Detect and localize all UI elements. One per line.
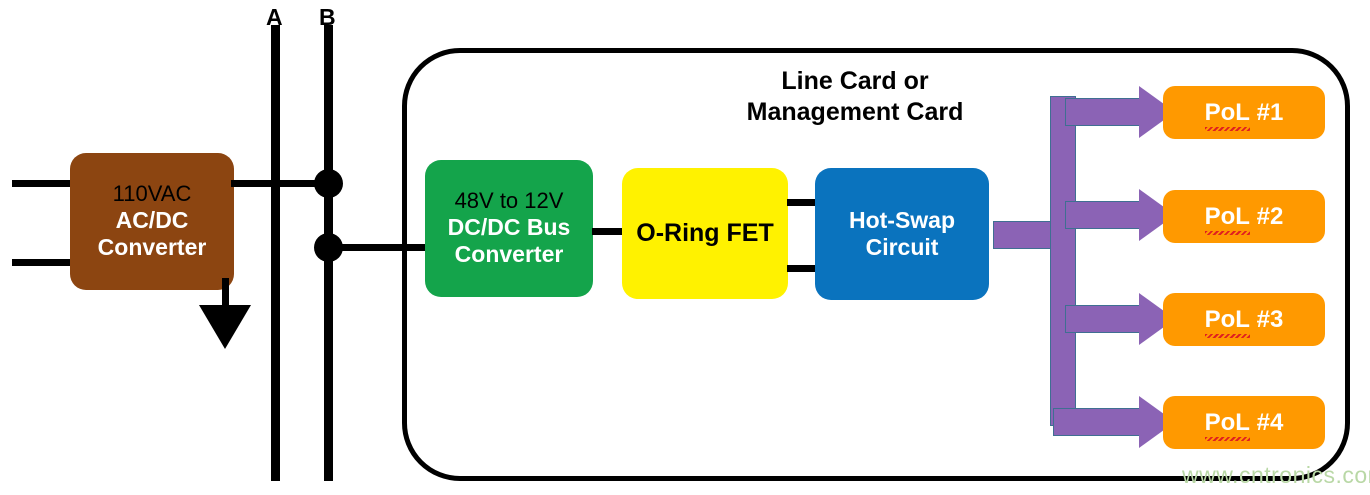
block-dcdc-bus-converter[interactable]: 48V to 12V DC/DC Bus Converter <box>425 160 593 297</box>
pol-rail-4-label: PoL #4 <box>1205 409 1284 437</box>
diagram-canvas: 110VAC AC/DC Converter A B Line Card or … <box>0 0 1370 495</box>
junction-dot-top <box>314 169 343 198</box>
bus-a-label: A <box>266 6 283 29</box>
block-hot-swap-line2: Circuit <box>866 234 939 261</box>
block-ac-dc-converter-line1: AC/DC <box>116 207 189 234</box>
wire-dcdc-to-oring <box>592 228 625 235</box>
pol-rail-2[interactable]: PoL #2 <box>1163 190 1325 243</box>
pol-rail-2-label: PoL #2 <box>1205 203 1284 231</box>
purple-arrow-4-shaft <box>1053 408 1141 436</box>
pol-rail-4[interactable]: PoL #4 <box>1163 396 1325 449</box>
purple-arrow-pol-2 <box>1065 189 1175 241</box>
block-ac-dc-converter-line2: Converter <box>98 234 207 261</box>
pol-rail-2-suffix: #2 <box>1250 203 1283 230</box>
purple-arrow-pol-3 <box>1065 293 1175 345</box>
ac-input-line-top <box>12 180 74 187</box>
purple-arrow-2-shaft <box>1065 201 1141 229</box>
purple-arrow-pol-4 <box>1053 396 1175 448</box>
pol-rail-4-prefix: PoL <box>1205 409 1250 436</box>
bus-a-line <box>271 25 280 481</box>
block-ac-dc-converter[interactable]: 110VAC AC/DC Converter <box>70 153 234 290</box>
bus-b-label: B <box>319 6 336 29</box>
block-hot-swap-circuit[interactable]: Hot-Swap Circuit <box>815 168 989 300</box>
watermark: www.cntronics.com <box>1182 462 1370 489</box>
purple-arrow-3-shaft <box>1065 305 1141 333</box>
block-hot-swap-line1: Hot-Swap <box>849 207 955 234</box>
block-dcdc-line2: Converter <box>455 241 564 268</box>
pol-rail-3-suffix: #3 <box>1250 306 1283 333</box>
pol-rail-3[interactable]: PoL #3 <box>1163 293 1325 346</box>
ac-input-line-bottom <box>12 259 74 266</box>
block-ac-dc-converter-subtitle: 110VAC <box>113 181 192 207</box>
pol-rail-1-prefix: PoL <box>1205 99 1250 126</box>
block-o-ring-fet-label: O-Ring FET <box>636 219 773 249</box>
pol-rail-2-prefix: PoL <box>1205 203 1250 230</box>
pol-rail-4-suffix: #4 <box>1250 409 1283 436</box>
block-dcdc-line1: DC/DC Bus <box>448 214 571 241</box>
purple-bus-feed <box>993 221 1057 249</box>
purple-bus-vertical <box>1050 96 1076 426</box>
block-dcdc-subtitle: 48V to 12V <box>455 188 564 214</box>
purple-arrow-1-shaft <box>1065 98 1141 126</box>
pol-rail-3-label: PoL #3 <box>1205 306 1284 334</box>
pol-rail-1-label: PoL #1 <box>1205 99 1284 127</box>
block-o-ring-fet[interactable]: O-Ring FET <box>622 168 788 299</box>
ground-stem <box>222 278 229 308</box>
line-card-title-line2: Management Card <box>700 97 1010 128</box>
line-card-title-line1: Line Card or <box>700 66 1010 97</box>
pol-rail-1[interactable]: PoL #1 <box>1163 86 1325 139</box>
pol-rail-1-suffix: #1 <box>1250 99 1283 126</box>
pol-rail-3-prefix: PoL <box>1205 306 1250 333</box>
ground-triangle-icon <box>199 305 251 349</box>
line-card-title: Line Card or Management Card <box>700 66 1010 129</box>
purple-arrow-pol-1 <box>1065 86 1175 138</box>
